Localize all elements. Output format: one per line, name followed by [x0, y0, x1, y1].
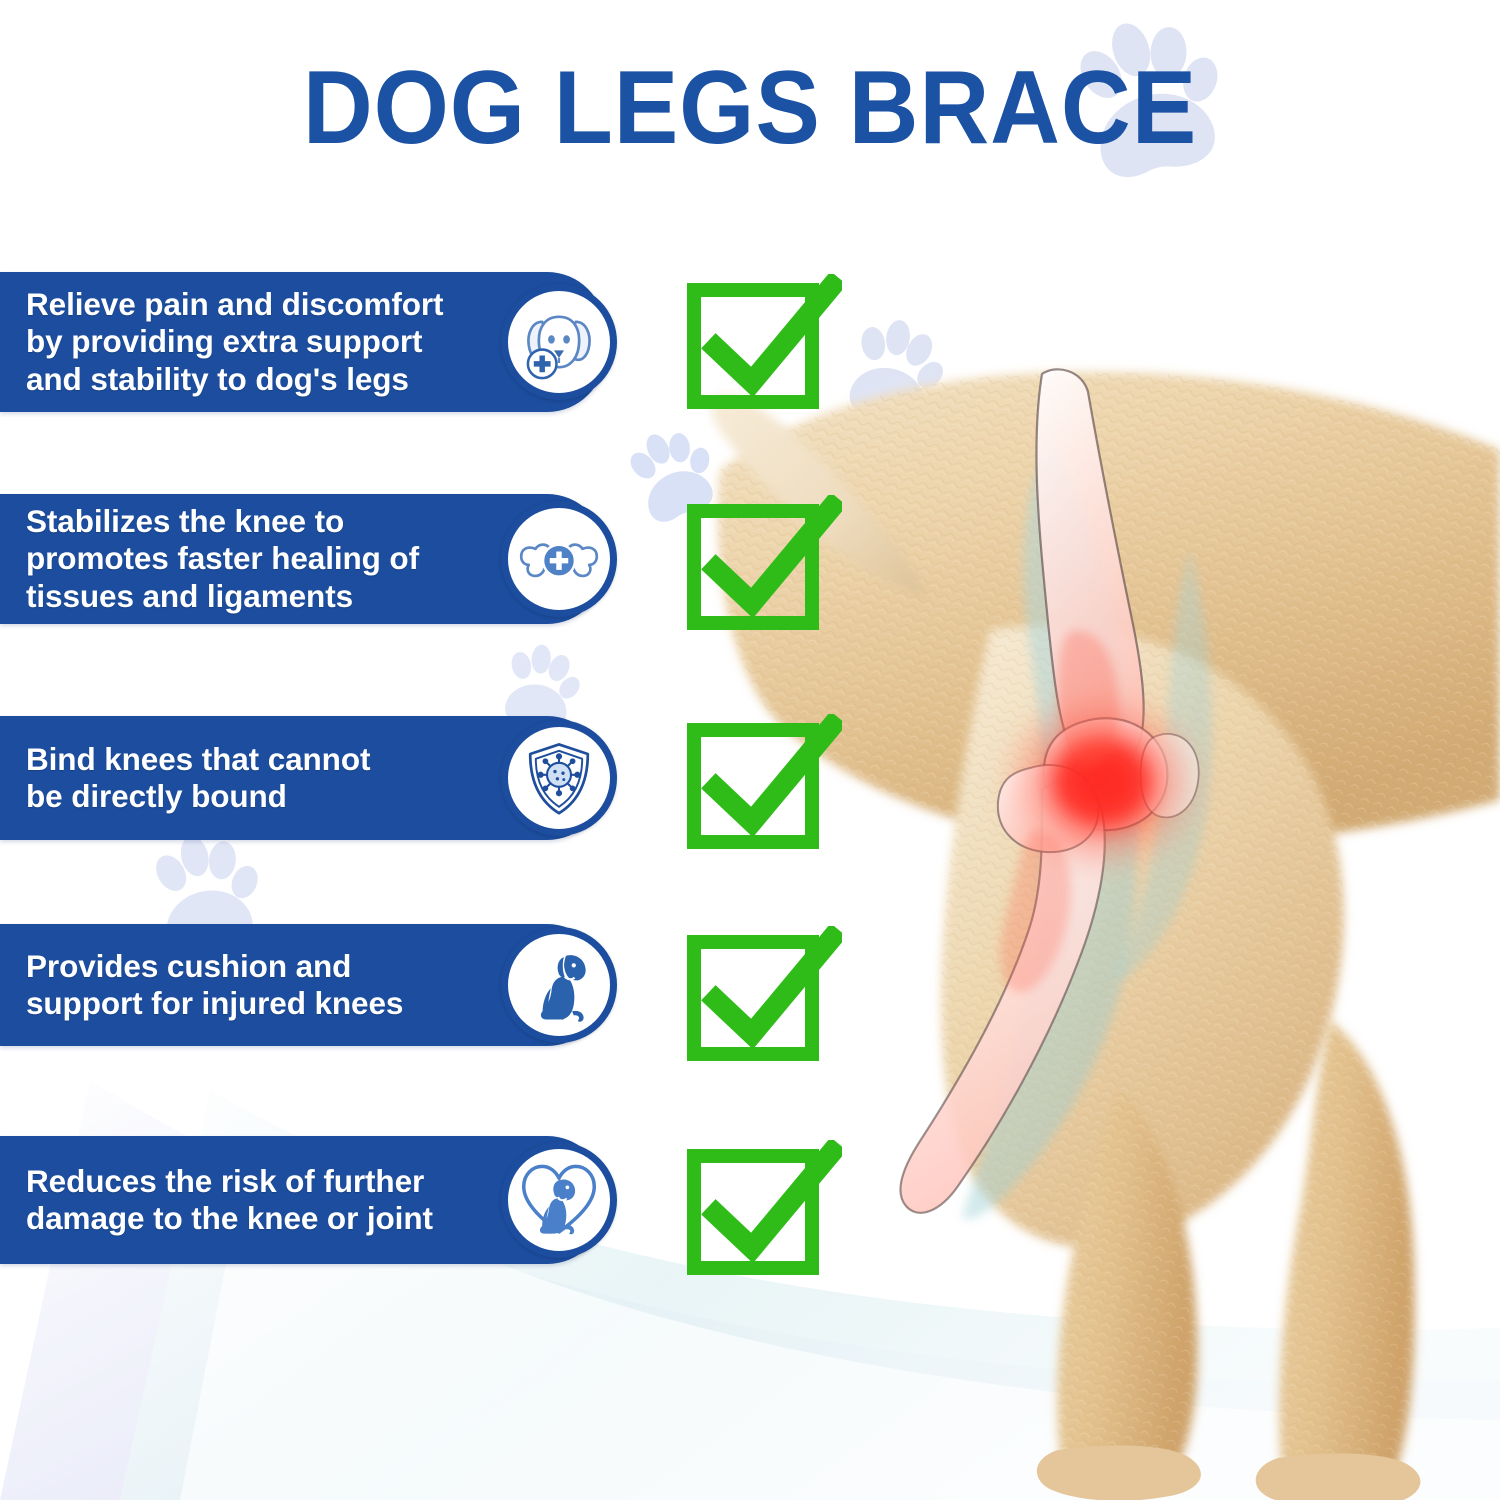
feature-card-reduce-risk[interactable]: Reduces the risk of further damage to th… [0, 1136, 605, 1264]
feature-card-bind-knees[interactable]: Bind knees that cannot be directly bound [0, 716, 605, 840]
paw-print-icon [833, 310, 954, 439]
green-checkbox-icon [686, 926, 842, 1068]
green-checkbox-icon [686, 1140, 842, 1282]
feature-card-relieve-pain[interactable]: Relieve pain and discomfort by providing… [0, 272, 605, 412]
green-checkbox-icon [686, 495, 842, 637]
page-title: DOG LEGS BRACE [53, 56, 1448, 160]
dog-head-medical-cross-icon [501, 284, 617, 400]
feature-list: Relieve pain and discomfort by providing… [0, 272, 625, 1264]
feature-card-cushion-support[interactable]: Provides cushion and support for injured… [0, 924, 605, 1046]
dog-in-heart-icon [501, 1142, 617, 1258]
feature-card-stabilize-knee[interactable]: Stabilizes the knee to promotes faster h… [0, 494, 605, 624]
green-checkbox-icon [686, 274, 842, 416]
green-checkbox-icon [686, 714, 842, 856]
bone-medical-cross-icon [501, 501, 617, 617]
infographic-page: DOG LEGS BRACE [0, 0, 1500, 1500]
sitting-dog-icon [501, 927, 617, 1043]
shield-germ-icon [501, 720, 617, 836]
